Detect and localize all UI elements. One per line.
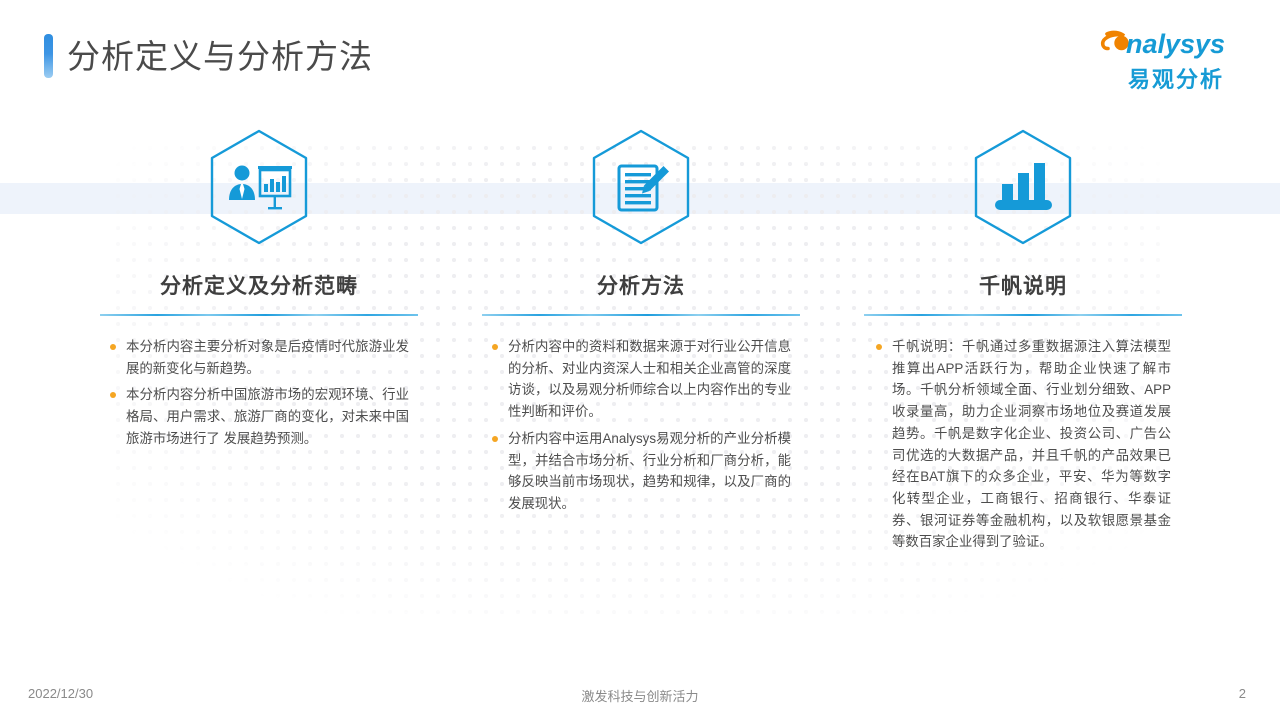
svg-text:nalysys: nalysys	[1126, 29, 1225, 59]
list-item: 千帆说明：千帆通过多重数据源注入算法模型推算出APP活跃行为，帮助企业快速了解市…	[875, 336, 1171, 553]
list-item: 本分析内容分析中国旅游市场的宏观环境、行业格局、用户需求、旅游厂商的变化，对未来…	[109, 384, 409, 449]
footer-page-number: 2	[1239, 686, 1246, 701]
column-divider	[482, 314, 800, 316]
column-bullet-list: 分析内容中的资料和数据来源于对行业公开信息的分析、对业内资深人士和相关企业高管的…	[491, 336, 791, 520]
content-columns: 分析定义及分析范畴 本分析内容主要分析对象是后疫情时代旅游业发展的新变化与新趋势…	[0, 128, 1280, 558]
column-qianfan-description: 千帆说明 千帆说明：千帆通过多重数据源注入算法模型推算出APP活跃行为，帮助企业…	[832, 128, 1214, 558]
logo-wordmark-icon: nalysys	[1096, 26, 1256, 66]
list-item: 分析内容中的资料和数据来源于对行业公开信息的分析、对业内资深人士和相关企业高管的…	[491, 336, 791, 423]
document-pencil-icon	[587, 128, 695, 246]
analysys-logo: nalysys 易观分析	[1096, 26, 1256, 91]
list-item: 本分析内容主要分析对象是后疫情时代旅游业发展的新变化与新趋势。	[109, 336, 409, 379]
column-heading: 分析方法	[597, 270, 685, 300]
bar-chart-icon	[969, 128, 1077, 246]
column-bullet-list: 本分析内容主要分析对象是后疫情时代旅游业发展的新变化与新趋势。 本分析内容分析中…	[109, 336, 409, 455]
column-heading: 分析定义及分析范畴	[160, 270, 358, 300]
column-bullet-list: 千帆说明：千帆通过多重数据源注入算法模型推算出APP活跃行为，帮助企业快速了解市…	[875, 336, 1171, 558]
logo-chinese-name: 易观分析	[1096, 69, 1256, 91]
column-divider	[100, 314, 418, 316]
column-heading: 千帆说明	[979, 270, 1067, 300]
column-analysis-method: 分析方法 分析内容中的资料和数据来源于对行业公开信息的分析、对业内资深人士和相关…	[450, 128, 832, 558]
presenter-chart-board-icon	[205, 128, 313, 246]
column-divider	[864, 314, 1182, 316]
title-text: 分析定义与分析方法	[67, 40, 373, 73]
column-analysis-definition: 分析定义及分析范畴 本分析内容主要分析对象是后疫情时代旅游业发展的新变化与新趋势…	[68, 128, 450, 558]
list-item: 分析内容中运用Analysys易观分析的产业分析模型，并结合市场分析、行业分析和…	[491, 428, 791, 515]
footer-slogan: 激发科技与创新活力	[0, 686, 1280, 705]
page-title: 分析定义与分析方法	[44, 34, 373, 78]
title-accent-bar	[44, 34, 53, 78]
slide-header: 分析定义与分析方法 nalysys 易观分析	[0, 0, 1280, 120]
slide-footer: 2022/12/30 激发科技与创新活力 2	[0, 674, 1280, 720]
